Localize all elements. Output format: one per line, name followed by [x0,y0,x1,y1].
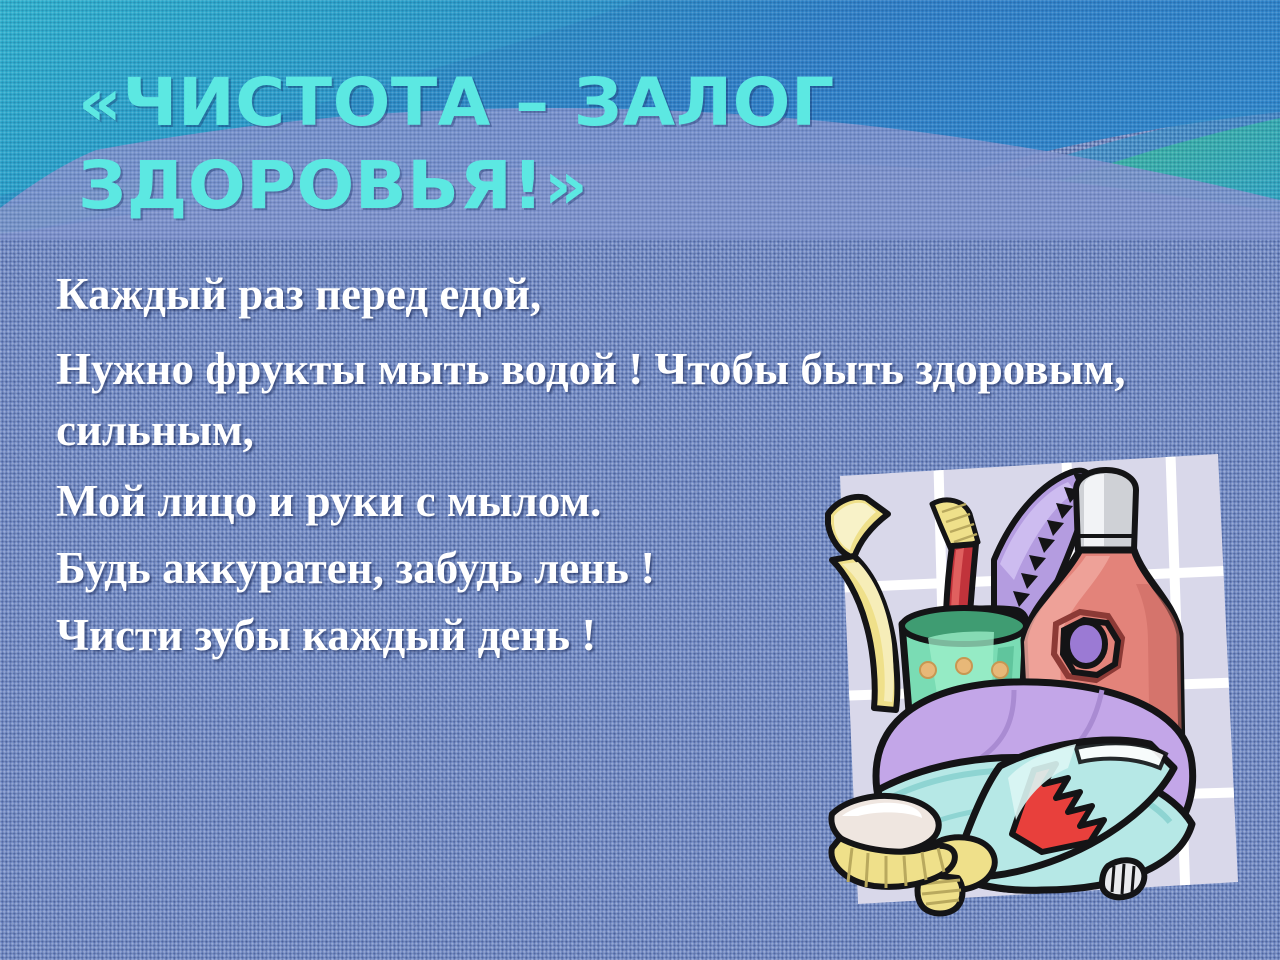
presentation-slide: «ЧИСТОТА – ЗАЛОГ ЗДОРОВЬЯ!» Каждый раз п… [0,0,1280,960]
tube-end-icon [1102,860,1144,897]
title-line-2: ЗДОРОВЬЯ!» [78,145,1170,228]
slide-title: «ЧИСТОТА – ЗАЛОГ ЗДОРОВЬЯ!» [78,62,1170,227]
bathroom-hygiene-clipart [818,438,1258,920]
poem-line-1: Каждый раз перед едой, [56,272,1166,317]
title-line-1: «ЧИСТОТА – ЗАЛОГ [78,62,1170,145]
